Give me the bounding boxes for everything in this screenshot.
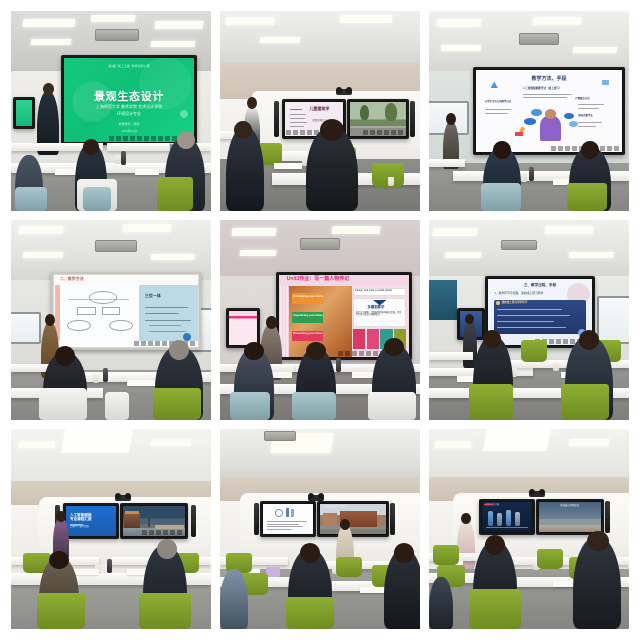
- slide-header-text: 第5届 "技工之星" 教学创新大赛: [64, 64, 194, 68]
- photo-top-left: 第5届 "技工之星" 教学创新大赛 景观生态设计 上海师范大学 美术学院 艺术设…: [11, 11, 211, 211]
- slide-section-1: 人工智能赋能教学法（线上线下）: [523, 88, 562, 91]
- slide-architectural-plan: [263, 504, 313, 534]
- speaker-bar: [390, 503, 395, 535]
- bottle: [107, 559, 112, 573]
- illustration-figure: [540, 116, 560, 141]
- chair: [39, 388, 87, 420]
- audience-head: [49, 551, 69, 569]
- ceiling-light: [260, 37, 301, 43]
- speaker-bar: [254, 503, 259, 535]
- chair: [336, 557, 362, 577]
- skylight: [61, 429, 133, 453]
- ceiling-light: [435, 441, 472, 448]
- slide-logo-badge: [180, 110, 188, 118]
- collage-cell-6[interactable]: 三、教学过程、手段 1、教学环节与流程，课前线上预习导学 课前线上预习导学环节: [429, 220, 629, 420]
- projection-screen: 二、教学方法 三位一体: [51, 272, 201, 350]
- tile: [367, 329, 379, 349]
- audience-head: [384, 338, 404, 356]
- ceiling-light: [151, 439, 192, 446]
- chair: [286, 597, 334, 629]
- ceiling-light: [151, 254, 196, 260]
- camera: [529, 491, 545, 497]
- presenter-head: [266, 316, 277, 329]
- collage-cell-1[interactable]: 第5届 "技工之星" 教学创新大赛 景观生态设计 上海师范大学 美术学院 艺术设…: [11, 11, 211, 211]
- chair: [105, 392, 129, 420]
- ceiling-light: [18, 226, 63, 234]
- presenter-head: [461, 513, 471, 524]
- slide-section-2: 以学生为中心的教学方法: [485, 101, 517, 104]
- slide-coastal-skyline-photo: 滨海城市风貌研究: [539, 502, 601, 532]
- slide-right-card-title: 多模态教学: [367, 306, 384, 310]
- slide-lead-line: 1、教学环节与流程，课前线上预习导学: [494, 292, 543, 295]
- speaker-bar: [191, 505, 196, 537]
- photo-middle-center: Unit3作业：写一篇人物传记 Developing your ideas Or…: [220, 220, 420, 420]
- bottle: [103, 368, 108, 382]
- audience-member: [429, 577, 453, 629]
- slide-title: 人工智能赋能 专业课程汇报: [70, 513, 105, 521]
- collage-cell-9[interactable]: 成果对比分析 滨海城市风貌研究: [429, 429, 629, 629]
- paper: [135, 169, 159, 175]
- slide-comparison-chart: 成果对比分析: [482, 502, 532, 532]
- photo-collage: 第5届 "技工之星" 教学创新大赛 景观生态设计 上海师范大学 美术学院 艺术设…: [0, 0, 640, 640]
- collage-cell-2[interactable]: 儿童建筑学 课程思政设计: [220, 11, 420, 211]
- display-right: 滨海城市风貌研究: [536, 499, 604, 535]
- slide-teaching-methods: 教学方法、手段 人工智能赋能教学法（线上线下） 以学生为中心的教学方法 产教融合…: [476, 70, 622, 152]
- ceiling-light: [532, 17, 581, 25]
- slide-subtitle-en: Design and write a profile article: [355, 290, 392, 293]
- cup: [521, 173, 527, 182]
- ceiling-light: [436, 19, 481, 27]
- display-left: [260, 501, 316, 537]
- slide-footer: 汇报人：教学团队: [70, 526, 89, 529]
- slide-subtitle: 上海师范大学 美术学院 艺术设计学院: [64, 104, 194, 110]
- audience-head: [320, 119, 344, 141]
- bar: [497, 513, 502, 526]
- slide-title: 三、教学过程、手段: [488, 283, 592, 287]
- bar: [488, 511, 493, 526]
- bottle: [336, 358, 341, 372]
- speaker-bar: [605, 501, 610, 533]
- audience-head: [394, 543, 414, 563]
- slide-title: Unit3作业：写一篇人物传记: [287, 277, 350, 283]
- slide-section-3: 产教融合方法: [575, 98, 589, 101]
- display-left: 人工智能赋能 专业课程汇报 汇报人：教学团队: [63, 503, 119, 539]
- chair: [433, 545, 459, 565]
- ceiling-light: [573, 47, 618, 53]
- paper: [274, 163, 302, 169]
- chair: [83, 187, 111, 211]
- display-right: [120, 503, 188, 539]
- cup: [388, 177, 394, 186]
- presenter-head: [446, 113, 456, 125]
- ceiling-light: [23, 252, 64, 258]
- audience-head: [234, 121, 252, 139]
- cup: [93, 374, 99, 383]
- chair: [292, 392, 336, 420]
- slide-heritage-building-photo: 历史建筑保护与更新: [320, 504, 386, 534]
- ceiling-light: [231, 228, 276, 236]
- slide-title: 儿童建筑学: [309, 107, 329, 112]
- audience-head: [587, 531, 609, 551]
- ceiling-light: [225, 17, 274, 25]
- ceiling-vent: [300, 238, 340, 250]
- slide-teaching-method-diagram: 二、教学方法 三位一体: [54, 275, 198, 347]
- audience-head: [177, 131, 195, 149]
- side-display: [13, 97, 35, 129]
- speaker-bar: [274, 101, 279, 137]
- slide-section-4: 体验式教学法: [578, 115, 592, 118]
- speaker-bar: [410, 101, 415, 137]
- presenter-head: [247, 97, 257, 109]
- presenter-head: [465, 314, 474, 324]
- skylight: [483, 429, 551, 451]
- audience-head: [306, 342, 326, 360]
- chair: [157, 177, 193, 211]
- main-display-green: 第5届 "技工之星" 教学创新大赛 景观生态设计 上海师范大学 美术学院 艺术设…: [61, 55, 197, 145]
- ceiling-light: [122, 224, 171, 232]
- chair: [567, 183, 607, 211]
- slide-landscape-ecology: 第5届 "技工之星" 教学创新大赛 景观生态设计 上海师范大学 美术学院 艺术设…: [64, 58, 194, 142]
- slide-presenter-line: 参赛教师：教师: [64, 122, 194, 126]
- display-left: 成果对比分析: [479, 499, 535, 535]
- collage-cell-8[interactable]: 历史建筑保护与更新: [220, 429, 420, 629]
- ceiling-light: [441, 45, 482, 51]
- bar: [515, 512, 520, 526]
- slide-title: 教学方法、手段: [476, 77, 622, 83]
- slide-title: 二、教学方法: [60, 277, 84, 282]
- slide-ticker: [123, 529, 185, 536]
- ceiling-light: [445, 252, 482, 258]
- chair: [469, 384, 513, 420]
- ceiling-light: [151, 41, 196, 47]
- side-whiteboard: [11, 312, 41, 344]
- chair: [15, 187, 47, 211]
- collage-cell-5[interactable]: Unit3作业：写一篇人物传记 Developing your ideas Or…: [220, 220, 420, 420]
- accent-wall-panel: [429, 280, 457, 320]
- camera: [336, 89, 352, 95]
- slide-panel-heading: 课前线上预习导学环节: [502, 302, 528, 305]
- photo-bottom-center: 历史建筑保护与更新: [220, 429, 420, 629]
- ceiling-light: [569, 439, 610, 446]
- slide-caption: 历史建筑保护与更新: [324, 506, 346, 509]
- tile: [353, 329, 365, 349]
- audience-head: [83, 139, 99, 155]
- bar: [506, 510, 511, 526]
- ceiling-vent: [95, 240, 137, 252]
- ceiling-vent: [95, 29, 139, 41]
- collage-cell-3[interactable]: 教学方法、手段 人工智能赋能教学法（线上线下） 以学生为中心的教学方法 产教融合…: [429, 11, 629, 211]
- chair: [481, 183, 521, 211]
- ceiling-light: [91, 15, 136, 22]
- paper: [127, 380, 155, 386]
- bottle: [529, 167, 534, 181]
- ceiling-vent: [264, 431, 296, 441]
- slide-teaching-process: 三、教学过程、手段 1、教学环节与流程，课前线上预习导学 课前线上预习导学环节: [488, 279, 592, 345]
- slide-campus-road-photo: [350, 102, 406, 136]
- ceiling-light: [432, 228, 477, 236]
- desk: [429, 159, 465, 167]
- chair: [561, 384, 609, 420]
- presenter-head: [43, 83, 54, 95]
- display-right: [347, 99, 409, 139]
- audience-head: [579, 330, 599, 350]
- photo-top-center: 儿童建筑学 课程思政设计: [220, 11, 420, 211]
- desk: [429, 352, 473, 360]
- bag: [266, 567, 280, 577]
- collage-cell-4[interactable]: 二、教学方法 三位一体: [11, 220, 211, 420]
- chair: [153, 388, 201, 420]
- collage-cell-7[interactable]: 人工智能赋能 专业课程汇报 汇报人：教学团队: [11, 429, 211, 629]
- chair: [139, 593, 191, 629]
- audience-head: [493, 141, 511, 159]
- step-3-label: Presenting your ideas: [293, 332, 323, 335]
- audience-member: [226, 127, 264, 211]
- chair: [368, 392, 416, 420]
- slide-title: 景观生态设计: [64, 88, 194, 104]
- audience-head: [169, 340, 189, 360]
- step-2-label: Organizing your ideas: [293, 314, 323, 317]
- slide-coastal-architecture: [123, 506, 185, 536]
- audience-head: [157, 539, 177, 559]
- side-whiteboard: [597, 296, 629, 344]
- photo-middle-left: 二、教学方法 三位一体: [11, 220, 211, 420]
- ceiling-light: [31, 39, 72, 45]
- chair: [230, 392, 270, 420]
- ceiling-vent: [501, 240, 537, 250]
- presenter-head: [56, 511, 66, 522]
- photo-middle-right: 三、教学过程、手段 1、教学环节与流程，课前线上预习导学 课前线上预习导学环节: [429, 220, 629, 420]
- ceiling-light: [339, 15, 392, 23]
- chair: [469, 589, 521, 629]
- audience-head: [485, 535, 505, 555]
- bottle: [121, 151, 126, 165]
- photo-bottom-right: 成果对比分析 滨海城市风貌研究: [429, 429, 629, 629]
- photo-bottom-left: 人工智能赋能 专业课程汇报 汇报人：教学团队: [11, 429, 211, 629]
- ceiling-light: [544, 226, 593, 234]
- slide-subtitle-2: 环境设计专业: [64, 111, 194, 117]
- slide-ticker: [350, 129, 406, 136]
- ceiling-light: [22, 19, 75, 27]
- camera: [115, 495, 131, 501]
- audience-head: [300, 543, 320, 563]
- ceiling-light: [154, 21, 203, 29]
- presenter-head: [340, 519, 350, 530]
- ceiling-vent: [519, 33, 559, 45]
- chair: [521, 340, 547, 362]
- slide-caption: 滨海城市风貌研究: [560, 505, 579, 508]
- slide-date-line: 2024年11月: [64, 129, 194, 133]
- slide-right-card-body: 结合文字图像、音频视频等多种模态资源，提升学生语言表达与理解能力。: [356, 312, 404, 317]
- audience-head: [244, 342, 264, 360]
- audience-head: [581, 141, 599, 159]
- audience-head: [55, 346, 75, 366]
- display-right: 历史建筑保护与更新: [317, 501, 389, 537]
- ceiling-light: [19, 441, 56, 448]
- ceiling-light: [569, 252, 614, 258]
- slide-right-heading: 三位一体: [145, 294, 161, 299]
- photo-top-right: 教学方法、手段 人工智能赋能教学法（线上线下） 以学生为中心的教学方法 产教融合…: [429, 11, 629, 211]
- audience-head: [483, 330, 501, 348]
- ceiling-light: [240, 250, 277, 256]
- presenter-head: [45, 314, 55, 326]
- chair: [37, 593, 85, 629]
- audience-member: [220, 569, 248, 629]
- cup: [553, 362, 559, 371]
- chair: [537, 549, 563, 569]
- step-1-label: Developing your ideas: [293, 295, 323, 298]
- ceiling-light: [331, 226, 380, 234]
- slide-ai-course-report: 人工智能赋能 专业课程汇报 汇报人：教学团队: [66, 506, 116, 536]
